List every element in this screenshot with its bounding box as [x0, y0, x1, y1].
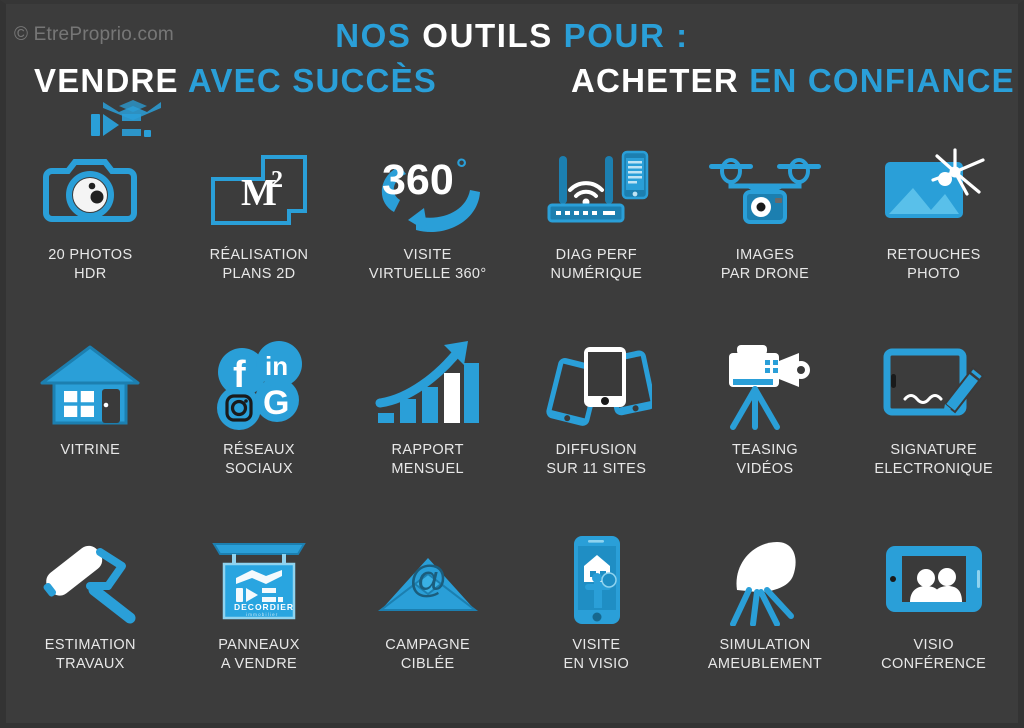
page-title-part1: NOS — [335, 17, 422, 54]
m2-exponent: 2 — [271, 167, 283, 193]
tool-cell-20-photos-hdr[interactable]: 20 PHOTOS HDR — [6, 136, 175, 331]
subheading-sell-part2: AVEC SUCCÈS — [179, 62, 437, 99]
router-wifi-icon — [536, 142, 656, 238]
tool-label: RÉSEAUX SOCIAUX — [223, 441, 295, 479]
social-networks-icon: f in G — [199, 337, 319, 433]
three-sixty-number: 360 — [382, 156, 454, 204]
subheading-sell: VENDRE AVEC SUCCÈS — [34, 62, 437, 100]
tablets-devices-icon — [536, 337, 656, 433]
tool-cell-diag-perf[interactable]: DIAG PERF NUMÉRIQUE — [512, 136, 681, 331]
degree-symbol: ° — [456, 153, 467, 184]
tool-cell-plans-2d[interactable]: M 2 RÉALISATION PLANS 2D — [175, 136, 344, 331]
phone-video-visit-icon — [536, 532, 656, 628]
shopfront-house-icon — [30, 337, 150, 433]
photo-retouch-icon — [874, 142, 994, 238]
at-symbol: @ — [409, 559, 448, 601]
tool-cell-signature-electronique[interactable]: SIGNATURE ELECTRONIQUE — [849, 331, 1018, 526]
facebook-letter: f — [233, 354, 246, 396]
page-title-part3: POUR : — [553, 17, 689, 54]
tool-label: CAMPAGNE CIBLÉE — [385, 636, 470, 674]
linkedin-letters: in — [265, 351, 288, 381]
tool-label: RAPPORT MENSUEL — [391, 441, 464, 479]
google-letter: G — [263, 384, 289, 422]
sign-title: DECORDIER — [234, 602, 294, 612]
tool-cell-retouches-photo[interactable]: RETOUCHES PHOTO — [849, 136, 1018, 331]
three-sixty-icon: 360 ° — [368, 142, 488, 238]
for-sale-sign-icon: DECORDIER immobilier — [199, 532, 319, 628]
tool-cell-images-drone[interactable]: IMAGES PAR DRONE — [681, 136, 850, 331]
floorplan-m2-icon: M 2 — [199, 142, 319, 238]
tool-cell-rapport-mensuel[interactable]: RAPPORT MENSUEL — [343, 331, 512, 526]
tool-cell-estimation-travaux[interactable]: ESTIMATION TRAVAUX — [6, 526, 175, 721]
tool-cell-teasing-videos[interactable]: TEASING VIDÉOS — [681, 331, 850, 526]
tool-cell-visite-en-visio[interactable]: VISITE EN VISIO — [512, 526, 681, 721]
tool-cell-diffusion[interactable]: DIFFUSION SUR 11 SITES — [512, 331, 681, 526]
subheading-buy-part2: EN CONFIANCE — [739, 62, 1015, 99]
camera-icon — [30, 142, 150, 238]
watermark-text: © EtreProprio.com — [14, 24, 174, 46]
sign-subtitle: immobilier — [246, 612, 279, 617]
video-camera-icon — [705, 337, 825, 433]
tool-label: VISITE EN VISIO — [564, 636, 630, 674]
tool-label: PANNEAUX A VENDRE — [218, 636, 300, 674]
tool-cell-visio-conference[interactable]: VISIO CONFÉRENCE — [849, 526, 1018, 721]
chair-furniture-icon — [705, 532, 825, 628]
subheading-buy: ACHETER EN CONFIANCE — [571, 62, 1015, 100]
tool-label: TEASING VIDÉOS — [732, 441, 798, 479]
tool-cell-campagne-ciblee[interactable]: @ CAMPAGNE CIBLÉE — [343, 526, 512, 721]
poster-canvas: © EtreProprio.com NOS OUTILS POUR : VEND… — [0, 0, 1024, 728]
tool-label: VISITE VIRTUELLE 360° — [369, 246, 487, 284]
page-title-part2: OUTILS — [422, 17, 553, 54]
tool-cell-vitrine[interactable]: VITRINE — [6, 331, 175, 526]
video-conference-icon — [874, 532, 994, 628]
tool-cell-simulation-ameublement[interactable]: SIMULATION AMEUBLEMENT — [681, 526, 850, 721]
subheading-sell-part1: VENDRE — [34, 62, 179, 99]
tool-label: DIFFUSION SUR 11 SITES — [546, 441, 646, 479]
tool-label: DIAG PERF NUMÉRIQUE — [550, 246, 642, 284]
subheading-buy-part1: ACHETER — [571, 62, 739, 99]
tool-label: 20 PHOTOS HDR — [48, 246, 132, 284]
signature-tablet-icon — [874, 337, 994, 433]
tool-label: VITRINE — [61, 441, 121, 460]
tool-label: VISIO CONFÉRENCE — [881, 636, 986, 674]
decordier-logo-icon — [89, 100, 173, 146]
tools-grid: 20 PHOTOS HDR M 2 RÉALISATION PLANS 2D — [6, 136, 1018, 721]
tool-cell-reseaux-sociaux[interactable]: f in G RÉSEAUX SOCIAUX — [175, 331, 344, 526]
tool-label: ESTIMATION TRAVAUX — [45, 636, 136, 674]
tool-label: RETOUCHES PHOTO — [887, 246, 981, 284]
tool-label: SIGNATURE ELECTRONIQUE — [874, 441, 993, 479]
drone-icon — [705, 142, 825, 238]
email-envelope-icon: @ — [368, 532, 488, 628]
paint-roller-icon — [30, 532, 150, 628]
growth-chart-icon — [368, 337, 488, 433]
tool-cell-visite-360[interactable]: 360 ° VISITE VIRTUELLE 360° — [343, 136, 512, 331]
tool-label: IMAGES PAR DRONE — [721, 246, 809, 284]
tool-label: SIMULATION AMEUBLEMENT — [708, 636, 822, 674]
tool-cell-panneaux-a-vendre[interactable]: DECORDIER immobilier PANNEAUX A VENDRE — [175, 526, 344, 721]
tool-label: RÉALISATION PLANS 2D — [210, 246, 309, 284]
